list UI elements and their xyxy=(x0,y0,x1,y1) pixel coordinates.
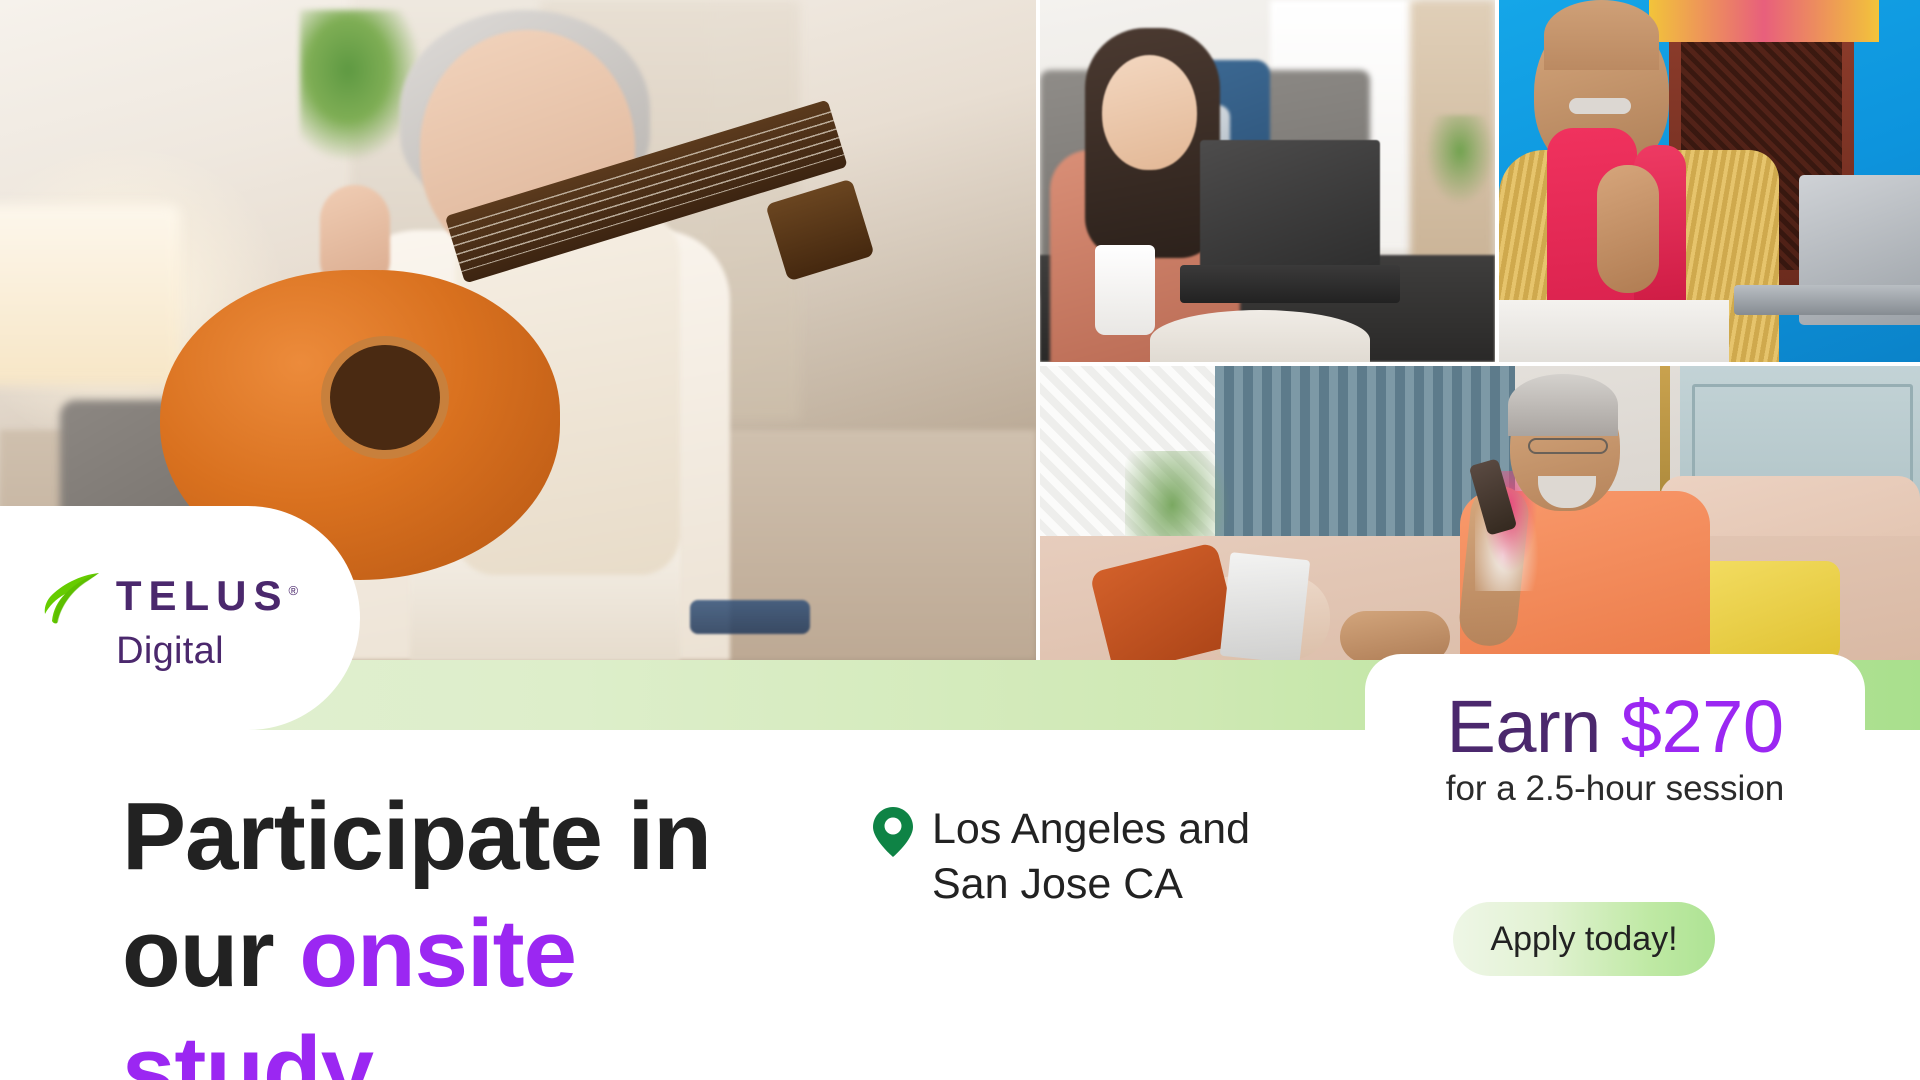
telus-wordmark: TELUS® xyxy=(116,575,298,617)
person-trousers xyxy=(1499,300,1729,362)
page-title: Participate inour onsite study xyxy=(122,778,842,1080)
location-text: Los Angeles and San Jose CA xyxy=(932,802,1250,911)
decor-pouf xyxy=(1150,310,1370,362)
map-pin-icon xyxy=(872,806,914,858)
telus-wordmark-text: TELUS xyxy=(116,572,289,619)
earnings-label: Earn xyxy=(1447,685,1621,768)
earnings-headline: Earn $270 xyxy=(1447,688,1784,766)
advertisement-canvas: TELUS® Digital Participate inour onsite … xyxy=(0,0,1920,1080)
thumbs-up-hand xyxy=(1597,165,1659,293)
photo-man-thumbs-up xyxy=(1499,0,1920,362)
decor-eyeglasses xyxy=(690,600,810,634)
sub-brand-label: Digital xyxy=(116,632,224,670)
person-eyeglasses xyxy=(1528,438,1608,454)
telus-wordmark-row: TELUS® xyxy=(42,566,298,626)
location-block: Los Angeles and San Jose CA xyxy=(872,802,1250,911)
decor-lampshade xyxy=(0,205,180,385)
photo-man-on-phone xyxy=(1040,366,1920,660)
telus-swoosh-icon xyxy=(42,566,100,626)
headline-line-2-prefix: our xyxy=(122,900,299,1007)
earnings-card: Earn $270 for a 2.5-hour session xyxy=(1365,654,1865,844)
person-head-top xyxy=(1544,0,1659,70)
laptop-screen xyxy=(1220,552,1310,660)
decor-yellow-pillow xyxy=(1690,561,1840,660)
content-area: Participate inour onsite study Los Angel… xyxy=(0,730,1920,1080)
laptop-keyboard xyxy=(1734,285,1920,315)
brand-logo-plate: TELUS® Digital xyxy=(0,506,360,730)
brand-logo: TELUS® Digital xyxy=(42,566,298,670)
person-hand xyxy=(1340,611,1450,660)
photo-woman-with-laptop xyxy=(1040,0,1495,362)
person-hair xyxy=(1508,374,1618,436)
registered-trademark-mark: ® xyxy=(289,583,299,598)
earnings-amount: $270 xyxy=(1621,685,1784,768)
headline-line-1: Participate in xyxy=(122,783,711,890)
guitar-soundhole xyxy=(330,345,440,450)
decor-mug xyxy=(1095,245,1155,335)
apply-today-button[interactable]: Apply today! xyxy=(1453,902,1715,976)
laptop-keyboard xyxy=(1180,265,1400,303)
person-mustache xyxy=(1569,98,1631,114)
person-face xyxy=(1102,55,1197,170)
decor-plant xyxy=(1425,115,1495,205)
earnings-subtext: for a 2.5-hour session xyxy=(1446,768,1785,810)
decor-banner xyxy=(1649,0,1879,42)
